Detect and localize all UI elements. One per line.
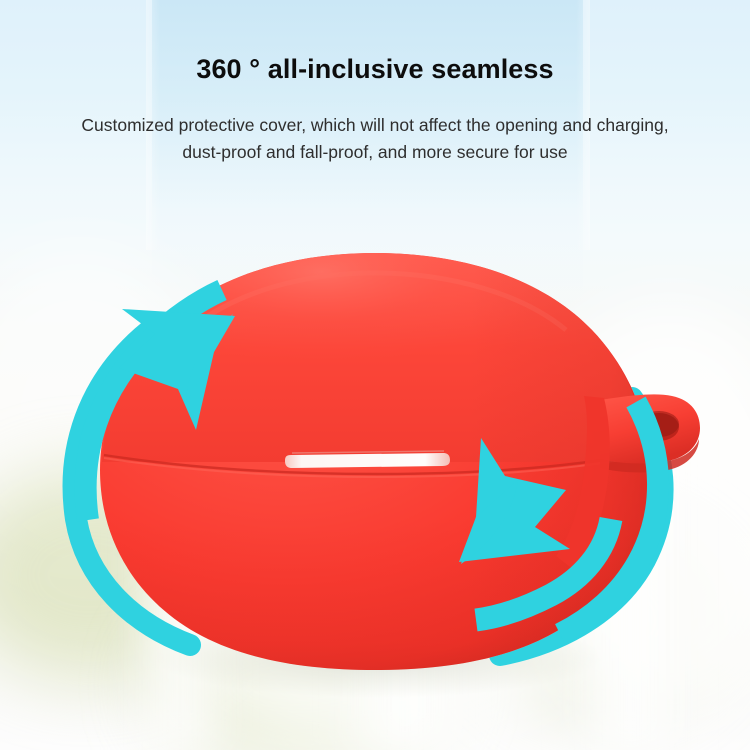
product-illustration [0, 0, 750, 750]
product-marketing-image: 360 ° all-inclusive seamless Customized … [0, 0, 750, 750]
case-indicator-strip [285, 453, 450, 468]
